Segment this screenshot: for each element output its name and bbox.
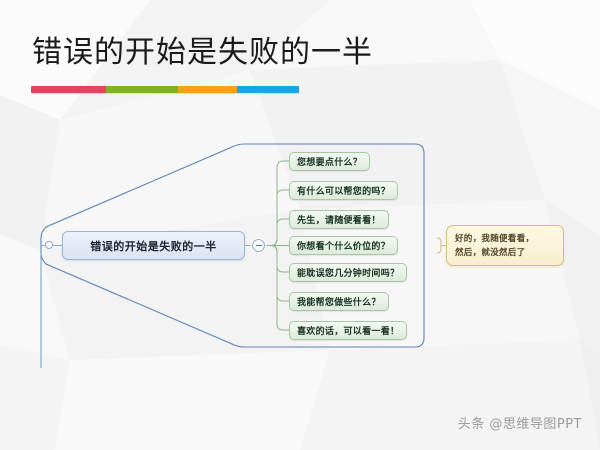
mindmap-child-label: 我能帮您做些什么？ — [297, 295, 381, 308]
note-line-2: 然后，就没然后了 — [455, 246, 525, 260]
minus-circle-icon[interactable] — [252, 239, 265, 252]
mindmap-child-node[interactable]: 能耽误您几分钟时间吗？ — [289, 263, 407, 282]
root-left-connector-dot[interactable] — [45, 241, 53, 249]
mindmap-child-label: 能耽误您几分钟时间吗？ — [297, 266, 399, 279]
mindmap-child-node[interactable]: 您想要点什么？ — [289, 152, 370, 171]
slide-canvas: 错误的开始是失败的一半 — [0, 0, 600, 450]
mindmap: 错误的开始是失败的一半 您想要点什么？ 有什么可以帮您的吗？ 先生，请随便看看！… — [0, 0, 600, 450]
mindmap-child-node[interactable]: 先生，请随便看看！ — [289, 210, 389, 229]
mindmap-child-label: 有什么可以帮您的吗？ — [297, 184, 390, 197]
mindmap-child-label: 你想看个什么价位的？ — [297, 239, 390, 252]
mindmap-child-node[interactable]: 有什么可以帮您的吗？ — [289, 181, 398, 200]
mindmap-child-label: 先生，请随便看看！ — [297, 213, 381, 226]
watermark: 头条 @思维导图PPT — [458, 413, 582, 432]
mindmap-child-node[interactable]: 喜欢的话，可以看一看！ — [289, 321, 407, 340]
mindmap-root-node[interactable]: 错误的开始是失败的一半 — [62, 231, 245, 260]
mindmap-child-label: 您想要点什么？ — [297, 155, 362, 168]
mindmap-child-node[interactable]: 你想看个什么价位的？ — [289, 236, 398, 255]
mindmap-child-label: 喜欢的话，可以看一看！ — [297, 324, 399, 337]
note-line-1: 好的，我随便看看， — [455, 232, 534, 246]
mindmap-child-node[interactable]: 我能帮您做些什么？ — [289, 292, 389, 311]
mindmap-root-label: 错误的开始是失败的一半 — [90, 238, 217, 254]
mindmap-note-node[interactable]: 好的，我随便看看， 然后，就没然后了 — [446, 225, 564, 266]
